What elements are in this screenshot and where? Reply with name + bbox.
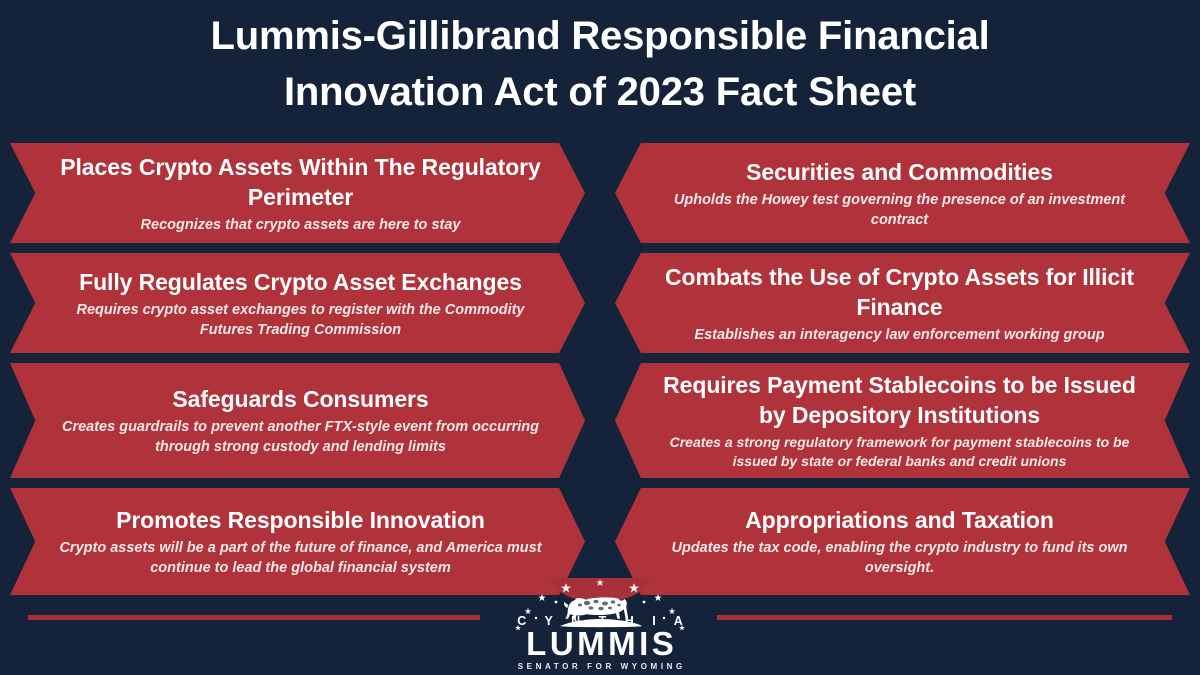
banner-grid: Places Crypto Assets Within The Regulato…	[0, 143, 1200, 595]
banner-subtitle: Creates guardrails to prevent another FT…	[58, 417, 543, 457]
banner-title: Promotes Responsible Innovation	[116, 505, 485, 535]
banner-fully-regulates-crypto-asset-exchanges: Fully Regulates Crypto Asset Exchanges R…	[10, 253, 585, 353]
banner-title: Safeguards Consumers	[172, 384, 428, 414]
logo-tagline: SENATOR FOR WYOMING	[492, 662, 708, 671]
banner-row-1: Places Crypto Assets Within The Regulato…	[0, 143, 1200, 243]
banner-title: Appropriations and Taxation	[745, 505, 1054, 535]
banner-securities-and-commodities: Securities and Commodities Upholds the H…	[615, 143, 1190, 243]
page-title-line-1: Lummis-Gillibrand Responsible Financial	[0, 8, 1200, 64]
fact-sheet-page: Lummis-Gillibrand Responsible Financial …	[0, 0, 1200, 675]
page-title: Lummis-Gillibrand Responsible Financial …	[0, 8, 1200, 120]
banner-subtitle: Upholds the Howey test governing the pre…	[657, 190, 1142, 230]
banner-places-crypto-assets-within-regulatory-perimeter: Places Crypto Assets Within The Regulato…	[10, 143, 585, 243]
banner-row-3: Safeguards Consumers Creates guardrails …	[0, 363, 1200, 478]
banner-subtitle: Establishes an interagency law enforceme…	[694, 325, 1104, 345]
banner-title: Requires Payment Stablecoins to be Issue…	[657, 370, 1142, 430]
banner-subtitle: Requires crypto asset exchanges to regis…	[58, 300, 543, 340]
banner-subtitle: Creates a strong regulatory framework fo…	[657, 433, 1142, 471]
banner-title: Combats the Use of Crypto Assets for Ill…	[657, 262, 1142, 322]
lummis-logo: C Y N T H I A LUMMIS SENATOR FOR WYOMING	[492, 578, 708, 673]
page-title-line-2: Innovation Act of 2023 Fact Sheet	[0, 64, 1200, 120]
banner-safeguards-consumers: Safeguards Consumers Creates guardrails …	[10, 363, 585, 478]
banner-subtitle: Recognizes that crypto assets are here t…	[141, 215, 461, 235]
banner-subtitle: Crypto assets will be a part of the futu…	[58, 538, 543, 578]
banner-title: Fully Regulates Crypto Asset Exchanges	[79, 267, 522, 297]
banner-title: Places Crypto Assets Within The Regulato…	[58, 152, 543, 212]
footer-divider-left	[28, 615, 480, 620]
banner-title: Securities and Commodities	[746, 157, 1053, 187]
banner-row-2: Fully Regulates Crypto Asset Exchanges R…	[0, 253, 1200, 353]
banner-requires-payment-stablecoins-issued-by-depository-institutions: Requires Payment Stablecoins to be Issue…	[615, 363, 1190, 478]
banner-subtitle: Updates the tax code, enabling the crypt…	[657, 538, 1142, 578]
logo-last-name: LUMMIS	[492, 626, 708, 662]
banner-combats-use-of-crypto-assets-for-illicit-finance: Combats the Use of Crypto Assets for Ill…	[615, 253, 1190, 353]
footer-divider-right	[717, 615, 1172, 620]
